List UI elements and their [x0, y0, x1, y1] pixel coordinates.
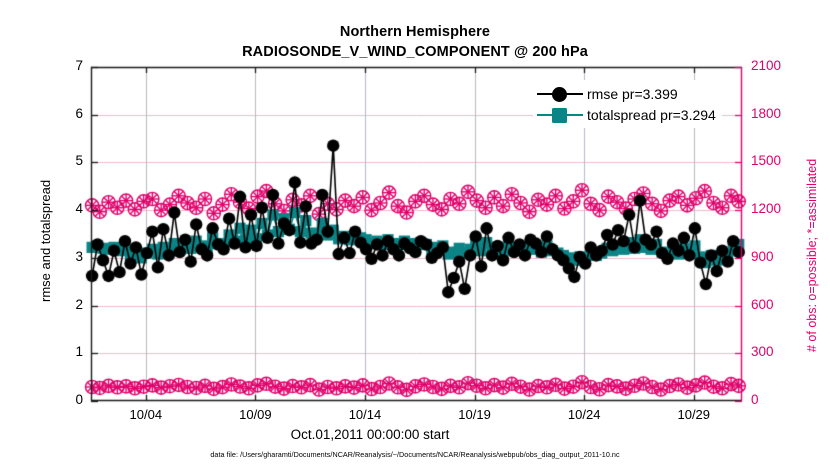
x-axis-label: Oct.01,2011 00:00:00 start — [0, 427, 740, 442]
chart-legend: rmse pr=3.399 totalspread pr=3.294 — [533, 80, 722, 128]
y-tick-label-left: 3 — [57, 249, 83, 264]
y-tick-label-left: 5 — [57, 153, 83, 168]
x-tick-label: 10/19 — [440, 407, 510, 422]
legend-marker-rmse — [537, 86, 583, 102]
x-tick-label: 10/29 — [659, 407, 729, 422]
legend-marker-totalspread — [537, 107, 583, 123]
y-axis-label-left: rmse and totalspread — [38, 180, 53, 302]
y-tick-label-left: 7 — [57, 58, 83, 73]
y-tick-label-left: 2 — [57, 297, 83, 312]
y-tick-label-right: 900 — [751, 249, 795, 264]
y-tick-label-right: 600 — [751, 297, 795, 312]
y-tick-label-right: 0 — [751, 392, 795, 407]
y-axis-label-right: # of obs: o=possible; *=assimilated — [805, 159, 819, 352]
x-tick-label: 10/09 — [220, 407, 290, 422]
legend-label-rmse: rmse pr=3.399 — [583, 86, 678, 102]
y-tick-label-right: 300 — [751, 344, 795, 359]
y-tick-label-left: 1 — [57, 344, 83, 359]
x-tick-label: 10/14 — [330, 407, 400, 422]
x-tick-label: 10/24 — [549, 407, 619, 422]
y-tick-label-left: 0 — [57, 392, 83, 407]
y-tick-label-left: 4 — [57, 201, 83, 216]
y-tick-label-right: 1500 — [751, 153, 795, 168]
x-tick-label: 10/04 — [111, 407, 181, 422]
y-tick-label-left: 6 — [57, 106, 83, 121]
y-tick-label-right: 2100 — [751, 58, 795, 73]
legend-item-totalspread[interactable]: totalspread pr=3.294 — [537, 104, 716, 125]
y-tick-label-right: 1200 — [751, 201, 795, 216]
plot-canvas — [0, 0, 830, 470]
data-file-note: data file: /Users/gharamti/Documents/NCA… — [0, 450, 830, 459]
figure-root: Northern Hemisphere RADIOSONDE_V_WIND_CO… — [0, 0, 830, 470]
legend-label-totalspread: totalspread pr=3.294 — [583, 107, 716, 123]
y-tick-label-right: 1800 — [751, 106, 795, 121]
legend-item-rmse[interactable]: rmse pr=3.399 — [537, 83, 716, 104]
